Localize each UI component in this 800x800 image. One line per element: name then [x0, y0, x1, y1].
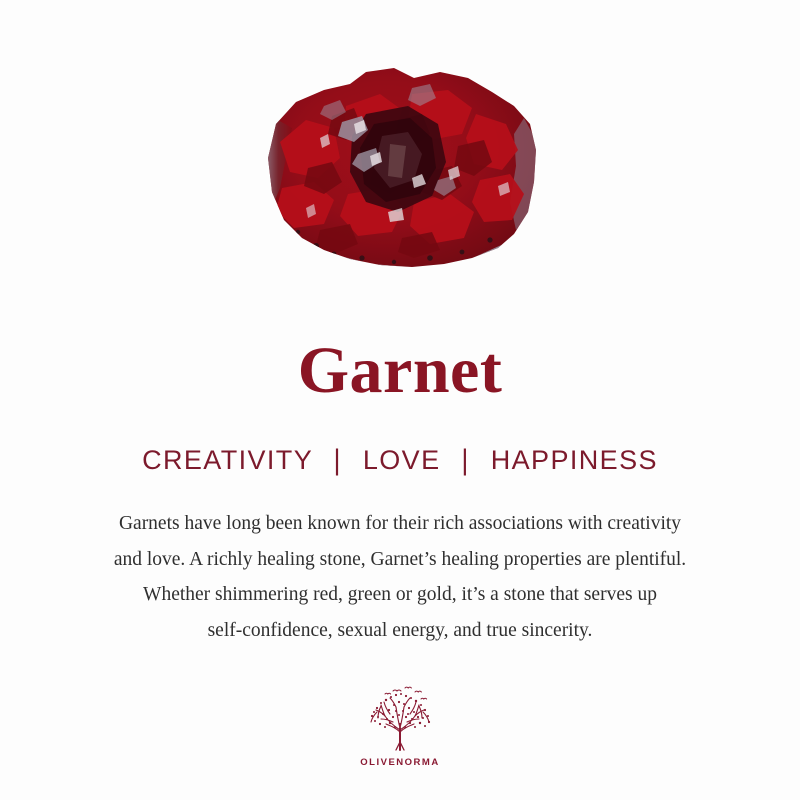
garnet-stone-illustration — [262, 62, 540, 270]
brand-wordmark: OLIVENORMA — [360, 757, 439, 768]
description-line: Whether shimmering red, green or gold, i… — [28, 577, 772, 613]
garnet-stone-image — [262, 62, 540, 270]
keyword-happiness: HAPPINESS — [491, 445, 658, 475]
keyword-separator-1: | — [322, 444, 354, 477]
description-line: Garnets have long been known for their r… — [28, 506, 772, 542]
stone-body — [262, 62, 540, 270]
keyword-creativity: CREATIVITY — [142, 445, 313, 475]
gemstone-info-card: Garnet CREATIVITY | LOVE | HAPPINESS Gar… — [0, 0, 800, 800]
keyword-line: CREATIVITY | LOVE | HAPPINESS — [0, 445, 800, 476]
description-line: and love. A richly healing stone, Garnet… — [28, 542, 772, 578]
keyword-love: LOVE — [363, 445, 441, 475]
tree-icon — [363, 684, 437, 754]
page-title: Garnet — [0, 336, 800, 405]
description-line: self-confidence, sexual energy, and true… — [28, 613, 772, 649]
description-text: Garnets have long been known for their r… — [28, 506, 772, 648]
keyword-separator-2: | — [449, 444, 481, 477]
brand-logo: OLIVENORMA — [0, 684, 800, 768]
